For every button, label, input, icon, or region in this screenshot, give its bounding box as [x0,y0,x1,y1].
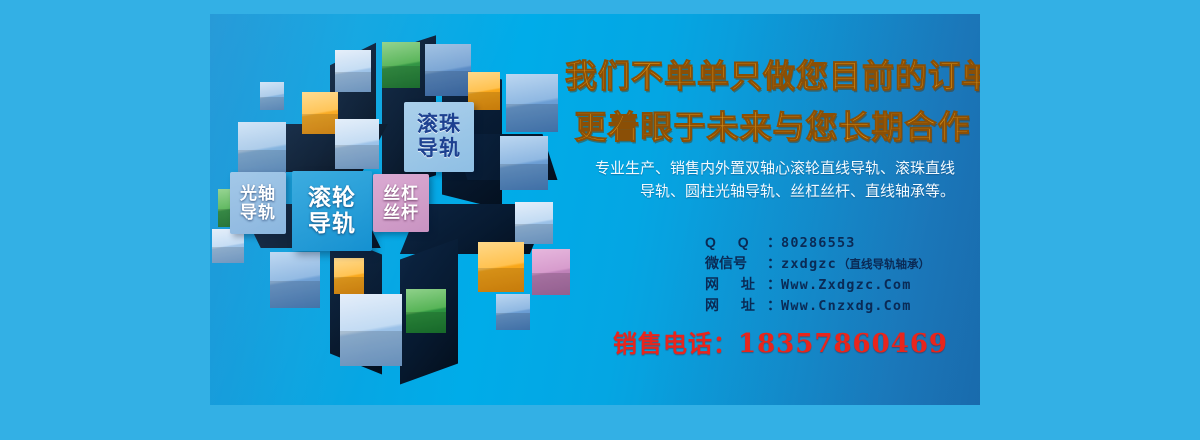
cube-face [515,202,553,244]
exploding-cubes-graphic: 滚珠 导轨 光轴 导轨 滚轮 导轨 丝杠 丝杆 [210,14,580,405]
contact-row-qq: Q Q ： 80286553 [705,232,975,253]
product-label-line2: 导轨 [240,203,276,222]
contact-info-block: Q Q ： 80286553 微信号 ： zxdgzc （直线导轨轴承） 网 址… [705,232,975,316]
product-label-gunlun-daogui[interactable]: 滚轮 导轨 [292,171,372,251]
cube-blue [340,294,402,366]
cube-face [238,122,286,176]
cube-blue [496,294,530,330]
cube-face [340,294,402,366]
contact-label-wechat: 微信号 [705,253,767,273]
product-label-line2: 丝杆 [383,203,419,222]
product-label-line2: 导轨 [308,211,356,237]
cube-blue [425,44,471,96]
cube-face [506,74,558,132]
product-label-line1: 滚轮 [308,185,356,211]
cube-green [382,42,420,88]
product-label-line1: 滚珠 [417,113,461,137]
sales-phone-number[interactable]: 18357860469 [738,329,948,359]
cube-face [260,82,284,110]
cube-face [382,42,420,88]
contact-value-qq[interactable]: 80286553 [781,235,856,251]
contact-row-website-1: 网 址 ： Www.Zxdgzc.Com [705,274,975,295]
contact-label-website-1: 网 址 [705,274,767,294]
cube-face [334,258,364,294]
cube-orange [302,92,338,134]
cube-face [335,119,379,169]
contact-separator: ： [767,295,781,315]
promotional-banner: 滚珠 导轨 光轴 导轨 滚轮 导轨 丝杠 丝杆 我们不单单只做您目前的订单 更着… [210,14,980,405]
cube-blue [270,252,320,308]
cube-blue [238,122,286,176]
contact-label-website-2: 网 址 [705,295,767,315]
company-description: 专业生产、销售内外置双轴心滚轮直线导轨、滚珠直线导轨、圆柱光轴导轨、丝杠丝杆、直… [595,157,955,204]
cube-blue [506,74,558,132]
product-label-line1: 丝杠 [383,184,419,203]
sales-phone-label: 销售电话： [613,331,738,358]
contact-note-wechat: （直线导轨轴承） [838,256,930,272]
cube-green [406,289,446,333]
contact-separator: ： [767,232,781,252]
contact-separator: ： [767,274,781,294]
product-label-gunzhu-daogui[interactable]: 滚珠 导轨 [404,102,474,172]
cube-orange [334,258,364,294]
product-label-line1: 光轴 [240,184,276,203]
cube-face [425,44,471,96]
cube-blue [212,229,244,263]
contact-row-wechat: 微信号 ： zxdgzc （直线导轨轴承） [705,253,975,274]
cube-blue [335,119,379,169]
contact-row-website-2: 网 址 ： Www.Cnzxdg.Com [705,295,975,316]
headline-line-2: 更着眼于未来与您长期合作 [565,102,980,148]
cube-face [335,50,371,92]
cube-face [212,229,244,263]
cube-face [406,289,446,333]
banner-text-column: 我们不单单只做您目前的订单 更着眼于未来与您长期合作 专业生产、销售内外置双轴心… [565,14,980,405]
cube-face [270,252,320,308]
contact-value-website-1[interactable]: Www.Zxdgzc.Com [781,277,912,293]
cube-face [302,92,338,134]
cube-blue [515,202,553,244]
contact-separator: ： [767,253,781,273]
cube-face [496,294,530,330]
product-label-line2: 导轨 [417,137,461,161]
sales-phone-block[interactable]: 销售电话：18357860469 [613,324,948,359]
cube-face [500,136,548,190]
headline-line-1: 我们不单单只做您目前的订单 [565,51,980,97]
cube-face [478,242,524,292]
product-label-sigang-sigan[interactable]: 丝杠 丝杆 [373,174,429,232]
cube-blue [260,82,284,110]
contact-value-website-2[interactable]: Www.Cnzxdg.Com [781,298,912,314]
product-label-guangzhou-daogui[interactable]: 光轴 导轨 [230,172,286,234]
contact-label-qq: Q Q [705,234,767,250]
cube-blue [500,136,548,190]
cube-blue [335,50,371,92]
cube-orange [478,242,524,292]
contact-value-wechat[interactable]: zxdgzc [781,256,837,272]
